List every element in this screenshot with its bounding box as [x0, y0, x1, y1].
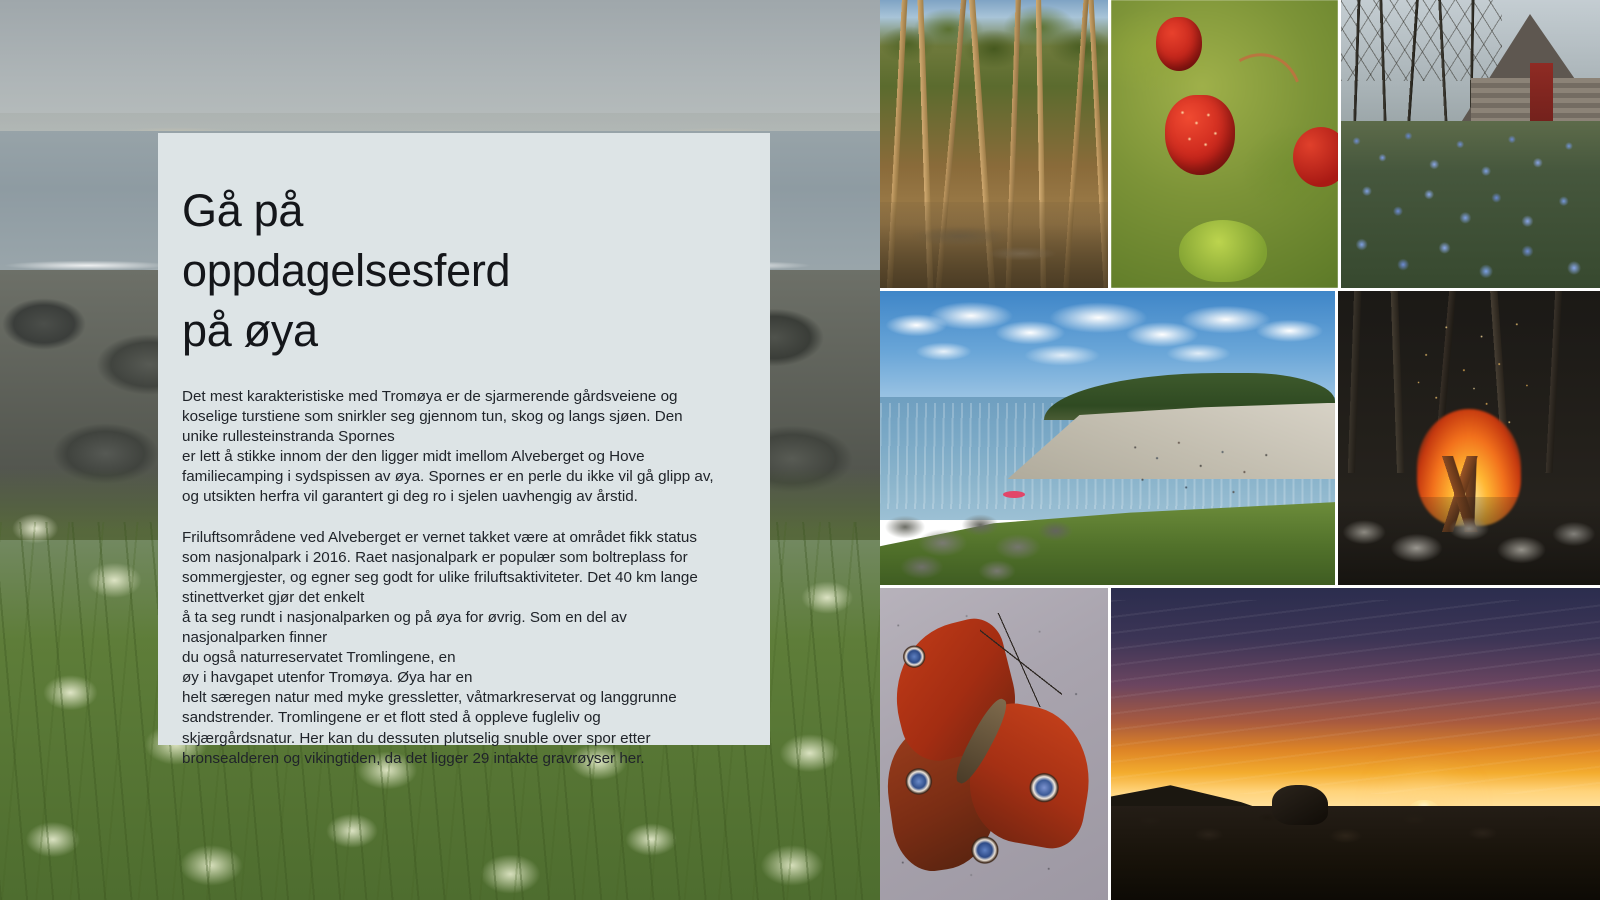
- campfire-stone-ring: [1338, 497, 1600, 585]
- collage-tile-peacock-butterfly[interactable]: [880, 588, 1108, 900]
- strawberry-leaf: [1179, 220, 1267, 282]
- forest-sandy-path: [880, 202, 1108, 288]
- blue-scilla-flowers: [1341, 121, 1600, 288]
- text-card-content: Gå på oppdagelsesferd på øya Det mest ka…: [182, 181, 726, 769]
- collage-tile-wild-strawberries[interactable]: [1111, 0, 1338, 288]
- sunset-stones: [1111, 800, 1600, 869]
- collage-tile-sunset-over-sea[interactable]: [1111, 588, 1600, 900]
- sunset-large-boulder: [1272, 785, 1328, 825]
- body-paragraph-1: Det mest karakteristiske med Tromøya er …: [182, 387, 726, 507]
- collage-tile-blue-flowers-with-barn[interactable]: [1341, 0, 1600, 288]
- collage-tile-campfire[interactable]: [1338, 291, 1600, 585]
- collage-tile-beach-panorama[interactable]: [880, 291, 1335, 585]
- butterfly-antennae: [980, 613, 1062, 707]
- photo-collage: [880, 0, 1600, 900]
- beach-visitors: [1117, 432, 1299, 508]
- beach-foreground-rocks: [880, 485, 1089, 585]
- page-title: Gå på oppdagelsesferd på øya: [182, 181, 726, 361]
- text-card: Gå på oppdagelsesferd på øya Det mest ka…: [158, 133, 770, 745]
- slide-root: Gå på oppdagelsesferd på øya Det mest ka…: [0, 0, 1600, 900]
- body-paragraph-2: Friluftsområdene ved Alveberget er verne…: [182, 528, 726, 769]
- sunset-cloud-streaks: [1111, 600, 1600, 793]
- collage-tile-pine-forest-path[interactable]: [880, 0, 1108, 288]
